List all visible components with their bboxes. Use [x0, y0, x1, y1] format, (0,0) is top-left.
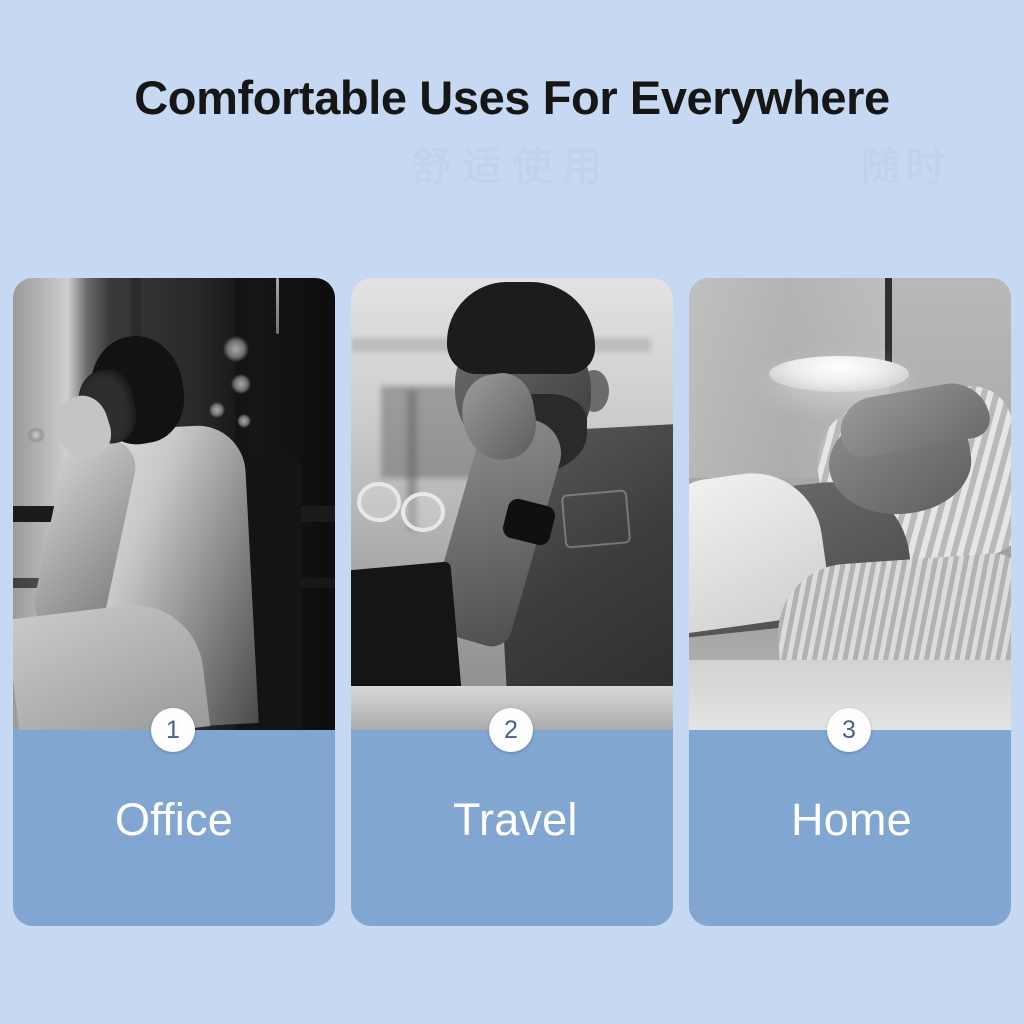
use-case-label-travel: Travel — [453, 794, 578, 846]
use-case-label-office: Office — [115, 794, 233, 846]
travel-footer: 2 Travel — [351, 730, 673, 926]
office-footer: 1 Office — [13, 730, 335, 926]
promo-banner: Comfortable Uses For Everywhere 舒适使用 随时 — [0, 0, 1024, 1024]
office-scene-illustration — [13, 278, 335, 730]
watermark-text: 舒适使用 随时 — [0, 134, 1024, 192]
use-case-card-row: 1 Office — [13, 278, 1011, 926]
page-title: Comfortable Uses For Everywhere — [0, 70, 1024, 125]
use-case-card-home[interactable]: 3 Home — [689, 278, 1011, 926]
travel-photo — [351, 278, 673, 730]
home-scene-illustration — [689, 278, 1011, 730]
use-case-card-travel[interactable]: 2 Travel — [351, 278, 673, 926]
use-case-label-home: Home — [791, 794, 912, 846]
watermark-left-text: 舒适使用 — [412, 145, 612, 189]
watermark-right-text: 随时 — [861, 134, 949, 192]
use-case-card-office[interactable]: 1 Office — [13, 278, 335, 926]
office-photo — [13, 278, 335, 730]
step-badge-1: 1 — [151, 708, 195, 752]
step-badge-2: 2 — [489, 708, 533, 752]
home-photo — [689, 278, 1011, 730]
travel-scene-illustration — [351, 278, 673, 730]
home-footer: 3 Home — [689, 730, 1011, 926]
step-badge-3: 3 — [827, 708, 871, 752]
